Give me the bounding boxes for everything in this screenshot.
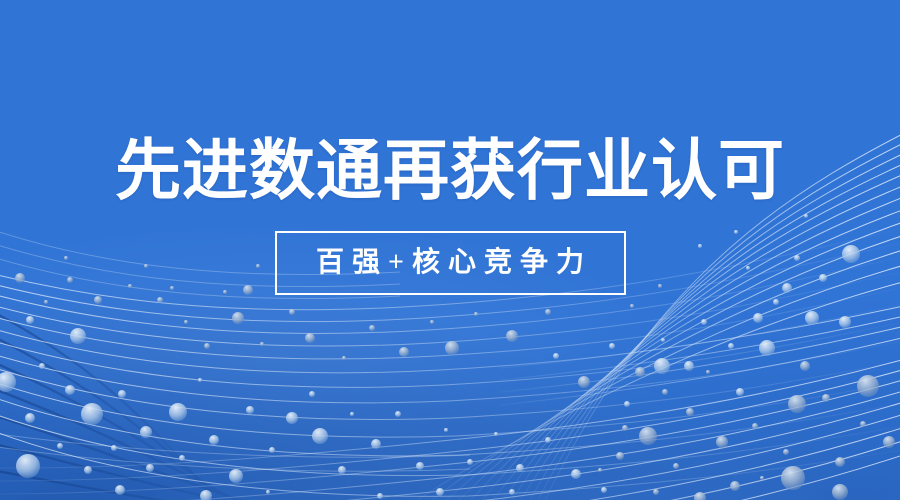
banner-content: 先进数通再获行业认可 百强+核心竞争力 — [0, 0, 900, 500]
subtitle-text: 百强+核心竞争力 — [308, 248, 592, 278]
subtitle-frame: 百强+核心竞争力 — [275, 231, 626, 295]
promo-banner: 先进数通再获行业认可 百强+核心竞争力 — [0, 0, 900, 500]
page-title: 先进数通再获行业认可 — [115, 133, 785, 211]
